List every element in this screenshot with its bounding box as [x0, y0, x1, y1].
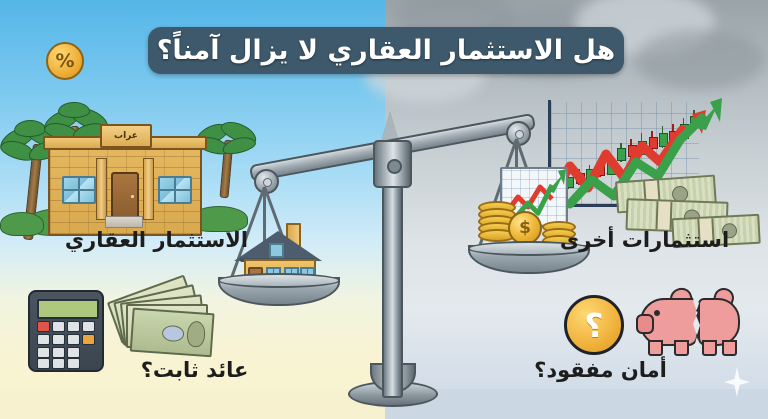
piggy-leg [702, 340, 717, 356]
scale-hub [373, 140, 412, 188]
calculator-key [52, 321, 65, 332]
calculator-key [52, 334, 65, 345]
building-window [62, 176, 96, 204]
broken-piggy-bank-icon [640, 292, 736, 354]
question-mark-glyph: ؟ [584, 306, 603, 345]
bush-icon [0, 212, 44, 236]
piggy-body-right [698, 298, 740, 346]
page-title: هل الاستثمار العقاري لا يزال آمناً؟ [157, 35, 616, 66]
calculator-key [37, 334, 50, 345]
calculator-key [82, 334, 95, 345]
cloud-puff [635, 30, 765, 90]
calculator-key [67, 358, 80, 369]
calculator-key [52, 358, 65, 369]
piggy-leg [674, 340, 689, 356]
calculator-key [67, 347, 80, 358]
piggy-eye [654, 310, 660, 316]
label-fixed-return: عائد ثابت؟ [112, 358, 277, 382]
dollar-symbol: $ [519, 218, 531, 238]
real-estate-building: عراب [48, 126, 198, 232]
percent-symbol: % [55, 50, 74, 72]
building-sign: عراب [100, 124, 152, 148]
calculator-icon [28, 290, 104, 372]
balance-scale: $ [240, 95, 540, 395]
building-door [111, 172, 139, 222]
calculator-key [52, 347, 65, 358]
page-title-banner: هل الاستثمار العقاري لا يزال آمناً؟ [148, 27, 624, 74]
building-column [96, 158, 107, 220]
building-column [143, 158, 154, 220]
building-sign-text: عراب [114, 131, 138, 141]
calculator-key [37, 347, 50, 358]
house-attic-window [269, 243, 284, 258]
piggy-leg [722, 340, 737, 356]
percent-badge-icon: % [46, 42, 84, 80]
calculator-key [67, 321, 80, 332]
calculator-key [67, 334, 80, 345]
label-other-investments: استثمارات أخرى [532, 228, 757, 252]
banknote-front [130, 308, 215, 358]
piggy-leg [648, 340, 663, 356]
building-window [158, 176, 192, 204]
label-lost-safety: أمان مفقود؟ [518, 358, 683, 382]
piggy-snout [636, 314, 654, 334]
question-mark-badge-icon: ؟ [564, 295, 624, 355]
label-real-estate: الاستثمار العقاري [44, 228, 269, 252]
calculator-key [37, 321, 50, 332]
calculator-key [37, 358, 50, 369]
calculator-key [82, 321, 95, 332]
infographic-canvas: هل الاستثمار العقاري لا يزال آمناً؟ عراب [0, 0, 768, 419]
building-steps [105, 216, 143, 228]
banknote-fan-icon [118, 298, 222, 360]
calculator-display [37, 299, 99, 319]
